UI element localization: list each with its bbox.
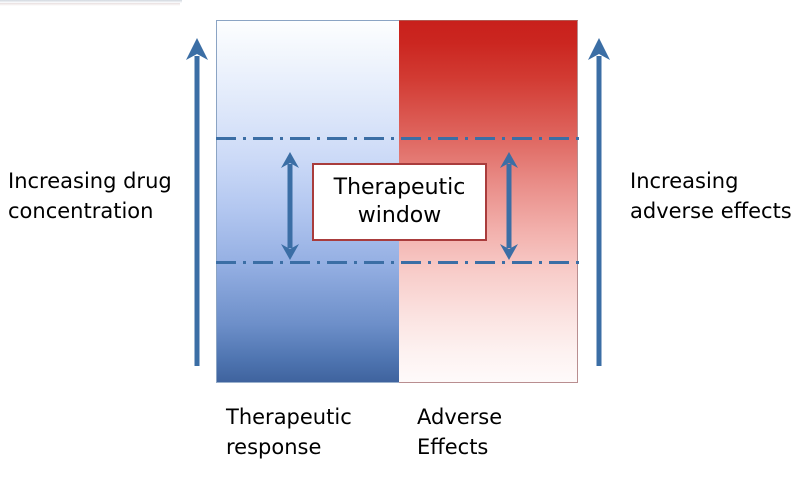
- adverse-effects-label-line2: Effects: [417, 433, 587, 463]
- therapeutic-response-label: Therapeutic response: [226, 403, 396, 463]
- therapeutic-window-span-right-arrow-icon: [493, 150, 525, 262]
- therapeutic-response-label-line1: Therapeutic: [226, 403, 396, 433]
- diagram-canvas: Therapeutic window Increasing drug conce…: [0, 0, 804, 477]
- right-axis-label-line1: Increasing: [630, 167, 804, 197]
- adverse-panel-shadow: [0, 3, 180, 6]
- increasing-adverse-effects-arrow-icon: [582, 36, 616, 366]
- upper-threshold-line: [216, 137, 580, 140]
- left-axis-label: Increasing drug concentration: [8, 167, 204, 227]
- lower-threshold-line: [216, 261, 580, 264]
- right-axis-label: Increasing adverse effects: [630, 167, 804, 227]
- therapeutic-window-callout: Therapeutic window: [312, 163, 487, 241]
- left-axis-label-line2: concentration: [8, 197, 204, 227]
- adverse-effects-label: Adverse Effects: [417, 403, 587, 463]
- therapeutic-window-label-line1: Therapeutic: [334, 174, 466, 202]
- right-axis-label-line2: adverse effects: [630, 197, 804, 227]
- left-axis-label-line1: Increasing drug: [8, 167, 204, 197]
- adverse-effects-label-line1: Adverse: [417, 403, 587, 433]
- therapeutic-response-label-line2: response: [226, 433, 396, 463]
- therapeutic-window-span-left-arrow-icon: [274, 150, 306, 262]
- therapeutic-window-label-line2: window: [358, 202, 441, 230]
